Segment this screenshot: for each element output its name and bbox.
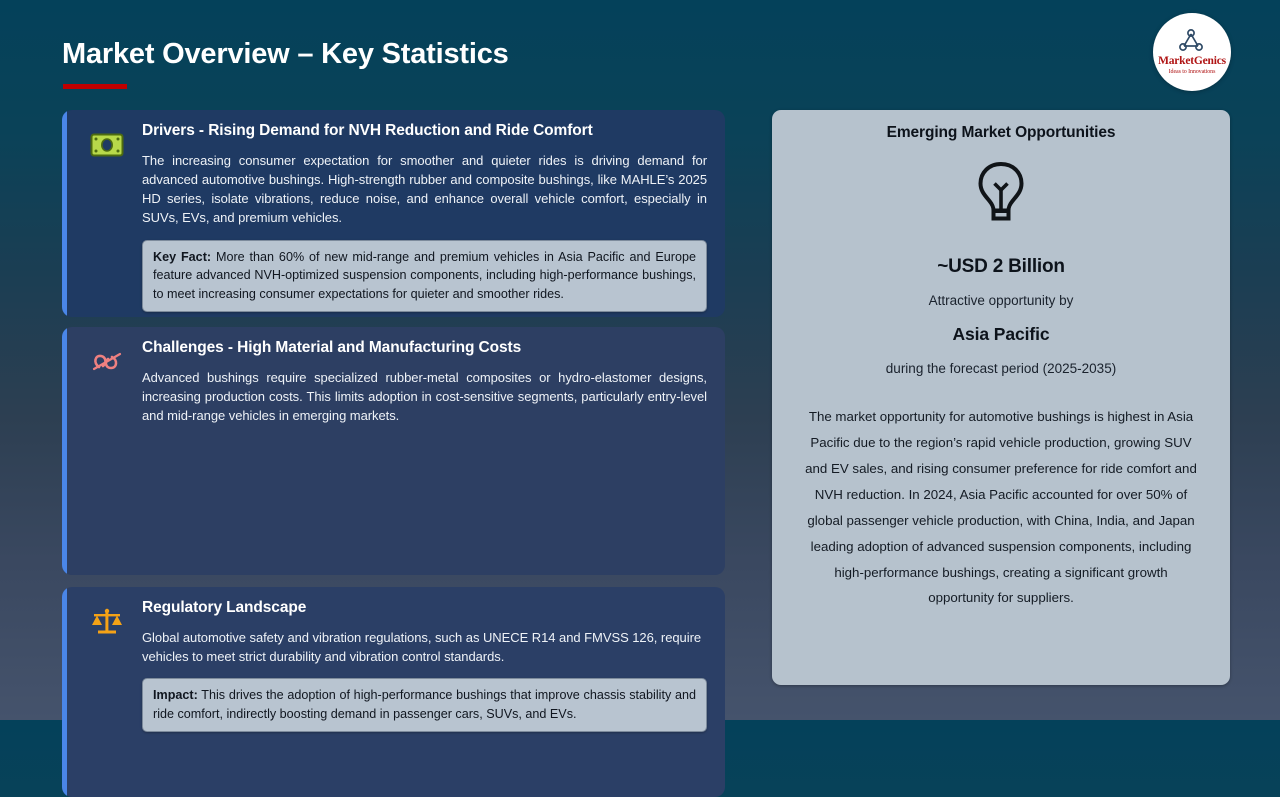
card-drivers: Drivers - Rising Demand for NVH Reductio… xyxy=(62,110,725,317)
forecast-period: during the forecast period (2025-2035) xyxy=(794,361,1208,376)
impact-callout: Impact: This drives the adoption of high… xyxy=(142,678,707,732)
callout-label: Impact: xyxy=(153,688,198,702)
title-underline-rule xyxy=(63,84,127,89)
logo-tagline: Ideas to Innovations xyxy=(1169,69,1216,75)
opportunity-description: The market opportunity for automotive bu… xyxy=(794,404,1208,611)
card-regulatory: Regulatory Landscape Global automotive s… xyxy=(62,587,725,797)
lightbulb-icon xyxy=(972,160,1030,224)
card-heading: Challenges - High Material and Manufactu… xyxy=(142,339,707,358)
page-title: Market Overview – Key Statistics xyxy=(62,38,509,71)
logo-brand-name: MarketGenics xyxy=(1158,56,1226,68)
card-challenges: Challenges - High Material and Manufactu… xyxy=(62,327,725,575)
card-body-text: The increasing consumer expectation for … xyxy=(142,151,707,228)
panel-title: Emerging Market Opportunities xyxy=(794,124,1208,142)
scales-balance-icon xyxy=(86,601,128,643)
money-banknote-icon xyxy=(86,124,128,166)
card-body-text: Advanced bushings require specialized ru… xyxy=(142,368,707,426)
card-heading: Regulatory Landscape xyxy=(142,599,707,618)
callout-label: Key Fact: xyxy=(153,250,211,264)
opportunity-region: Asia Pacific xyxy=(794,324,1208,345)
emerging-opportunities-panel: Emerging Market Opportunities ~USD 2 Bil… xyxy=(772,110,1230,685)
opportunity-value: ~USD 2 Billion xyxy=(794,256,1208,278)
broken-link-icon xyxy=(86,341,128,383)
opportunity-caption: Attractive opportunity by xyxy=(794,293,1208,308)
card-body-text: Global automotive safety and vibration r… xyxy=(142,628,707,666)
card-heading: Drivers - Rising Demand for NVH Reductio… xyxy=(142,122,707,141)
key-fact-callout: Key Fact: More than 60% of new mid-range… xyxy=(142,240,707,313)
callout-text: More than 60% of new mid-range and premi… xyxy=(153,250,696,301)
left-content-column: Drivers - Rising Demand for NVH Reductio… xyxy=(62,110,725,685)
callout-text: This drives the adoption of high-perform… xyxy=(153,688,696,721)
molecule-node-icon xyxy=(1177,29,1207,55)
brand-logo: MarketGenics Ideas to Innovations xyxy=(1153,13,1231,91)
